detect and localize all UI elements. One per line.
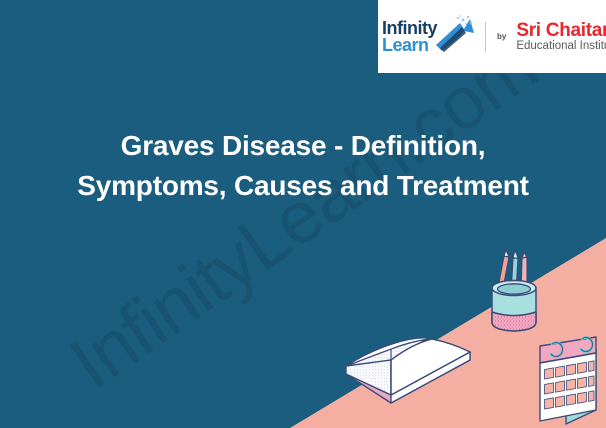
sri-chaitanya-logo: Sri Chaitanya Educational Institutions	[516, 21, 606, 53]
infinity-learn-line2: Learn	[382, 37, 437, 54]
logo-inner: Infinity Learn by Sri Chaitanya Edu	[378, 15, 606, 59]
infinity-learn-logo: Infinity Learn	[382, 15, 474, 59]
page-title-line1: Graves Disease - Definition,	[121, 130, 486, 161]
sri-chaitanya-name: Sri Chaitanya	[516, 21, 606, 40]
page-title: Graves Disease - Definition, Symptoms, C…	[0, 126, 606, 206]
logo-divider	[485, 22, 486, 52]
infinity-learn-wordmark: Infinity Learn	[382, 20, 437, 54]
poster-canvas: InfinityLearn.com	[0, 0, 606, 428]
brand-logo-box: Infinity Learn by Sri Chaitanya Edu	[378, 0, 606, 73]
sri-chaitanya-subtitle: Educational Institutions	[516, 41, 606, 53]
pencils-icon	[497, 250, 527, 294]
arrow-swoosh-icon	[430, 15, 478, 59]
page-title-line2: Symptoms, Causes and Treatment	[77, 170, 528, 201]
logo-connector-label: by	[497, 32, 506, 41]
